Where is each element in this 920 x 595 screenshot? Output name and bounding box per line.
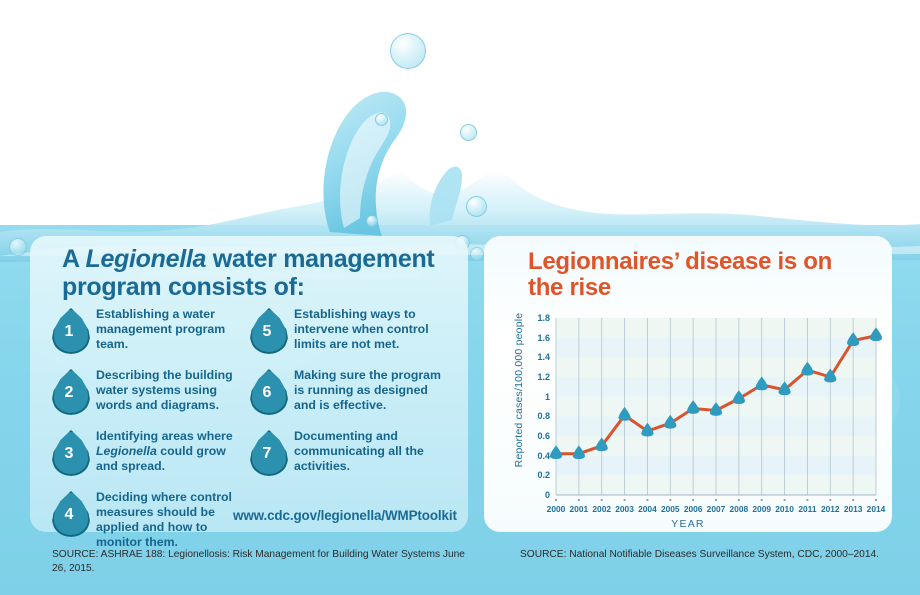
droplet-number: 2 [52,369,86,411]
droplet-number: 4 [52,491,86,533]
droplet-badge-icon: 5 [250,308,284,350]
droplet-number: 1 [52,308,86,350]
page-title: A Legionella water management program co… [62,245,452,302]
droplet-number: 7 [250,430,284,472]
bubble-icon [470,247,484,261]
list-item: 1 Establishing a water management progra… [52,306,242,358]
droplet-badge-icon: 2 [52,369,86,411]
list-item-label-part1: Identifying areas where [96,429,233,443]
bubble-icon [366,215,378,227]
steps-column-left: 1 Establishing a water management progra… [52,306,242,559]
droplet-badge-icon: 6 [250,369,284,411]
bubble-icon [460,124,477,141]
list-item-label: Documenting and communicating all the ac… [294,428,450,474]
droplet-badge-icon: 1 [52,308,86,350]
list-item-label-italic: Legionella [96,444,157,458]
bubble-icon [9,238,27,256]
page-title-pre: A [62,245,85,273]
list-item-label: Establishing ways to intervene when cont… [294,306,450,352]
list-item: 4 Deciding where control measures should… [52,489,242,550]
bubble-icon [375,113,388,126]
list-item: 5 Establishing ways to intervene when co… [250,306,450,358]
list-item: 7 Documenting and communicating all the … [250,428,450,480]
list-item-label: Establishing a water management program … [96,306,242,352]
droplet-number: 3 [52,430,86,472]
list-item-label: Identifying areas where Legionella could… [96,428,242,474]
list-item-label: Making sure the program is running as de… [294,367,450,413]
source-note-left: SOURCE: ASHRAE 188: Legionellosis: Risk … [52,548,472,576]
droplet-number: 6 [250,369,284,411]
droplet-number: 5 [250,308,284,350]
list-item-label: Describing the building water systems us… [96,367,242,413]
droplet-badge-icon: 4 [52,491,86,533]
page-title-italic: Legionella [85,245,206,273]
toolkit-url-link[interactable]: www.cdc.gov/legionella/WMPtoolkit [233,508,457,523]
line-chart-plot [484,236,892,532]
bubble-icon [390,33,426,69]
chart-area: Reported cases/100,000 people YEAR 00.20… [484,236,892,532]
droplet-badge-icon: 3 [52,430,86,472]
list-item: 6 Making sure the program is running as … [250,367,450,419]
steps-column-right: 5 Establishing ways to intervene when co… [250,306,450,489]
list-item: 2 Describing the building water systems … [52,367,242,419]
list-item-label: Deciding where control measures should b… [96,489,242,550]
list-item: 3 Identifying areas where Legionella cou… [52,428,242,480]
source-note-right: SOURCE: National Notifiable Diseases Sur… [520,548,920,562]
droplet-badge-icon: 7 [250,430,284,472]
bubble-icon [466,196,487,217]
infographic-canvas: A Legionella water management program co… [0,0,920,595]
